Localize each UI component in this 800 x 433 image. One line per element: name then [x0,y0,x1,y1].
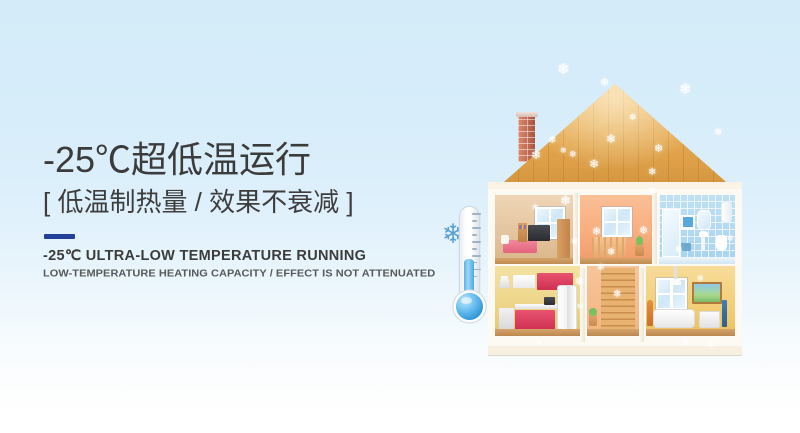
pendant-lamp [670,279,681,285]
books [519,225,526,229]
sink-pedestal [702,236,705,250]
wall-separator [639,268,644,342]
subtitle: [ 低温制热量 / 效果不衰减 ] [43,184,443,220]
floor-lamp [647,300,653,326]
snowflake-icon: ❄ [531,149,541,161]
pendant-cord [674,266,677,280]
promo-banner: -25℃超低温运行 [ 低温制热量 / 效果不衰减 ] -25℃ ULTRA-L… [0,0,800,433]
page-title: -25℃超低温运行 [43,138,443,182]
small-window [681,215,695,229]
snowflake-icon: ❄ [639,226,648,237]
snowflake-icon: ❄ [727,235,734,243]
framed-picture [692,282,722,304]
microwave [544,297,555,305]
snowflake-icon: ❄ [714,128,722,138]
floor-line [587,329,639,336]
toilet [716,235,727,251]
snowflake-icon: ❄ [548,136,556,146]
pillow [501,235,509,244]
snowflake-icon: ❄ [697,275,704,283]
room-kitchen [495,266,580,336]
snowflake-icon: ❄ [560,147,567,155]
snowflake-icon: ❄ [708,341,715,349]
snowflake-icon: ❄ [536,340,542,347]
english-subline: LOW-TEMPERATURE HEATING CAPACITY / EFFEC… [43,266,443,281]
cabinet [700,312,719,327]
mirror [697,210,711,230]
snowflake-icon: ❄ [681,338,689,348]
window [602,207,632,237]
snowflake-icon: ❄ [575,277,584,288]
divider [44,234,75,239]
room-bathroom [659,195,735,265]
floor-line [495,329,580,336]
wall-shelf [513,275,535,288]
snowflake-icon: ❄ [648,187,656,196]
snowflake-icon: ❄ [560,194,571,207]
range-hood [499,276,510,288]
lower-cabinets [515,310,555,330]
floors [488,182,742,346]
copy-block: -25℃超低温运行 [ 低温制热量 / 效果不衰减 ] -25℃ ULTRA-L… [43,138,443,282]
snowflake-icon: ❄ [629,113,637,122]
water-heater [721,201,732,223]
refrigerator [558,286,576,330]
room-living [646,266,735,336]
television [528,225,550,241]
stove [499,308,514,330]
snowflake-icon: ❄ [532,204,539,212]
cutaway-house [470,78,760,346]
snowflake-icon: ❄ [569,150,577,159]
floor-line [646,329,735,336]
english-headline: -25℃ ULTRA-LOW TEMPERATURE RUNNING [43,247,443,266]
staircase [601,268,635,334]
snowflake-icon: ❄ [607,248,615,258]
door [557,219,570,259]
floor-speaker [722,300,727,327]
sofa [654,310,694,327]
wall-separator [652,193,657,267]
snowflake-icon: ❄ [600,78,609,89]
snowflake-icon: ❄ [654,144,663,155]
room-staircase [587,266,639,336]
wall-separator [573,193,578,267]
snowflake-icon: ❄ [571,237,579,246]
snowflake-icon: ❄ [589,158,599,170]
plant-leaves [589,308,597,316]
snowflake-icon: ❄ [557,62,570,77]
plant-leaves [636,236,643,245]
snowflake-icon: ❄ [606,133,616,145]
snowflake-icon: ❄ [592,227,601,238]
snowflake-icon: ❄ [675,245,683,254]
snowflake-icon: ❄ [597,263,605,272]
snowflake-icon: ❄ [577,303,584,311]
snowflake-icon: ❄ [679,82,692,97]
snowflake-icon: ❄ [613,290,621,300]
snowflake-icon: ❄ [648,168,656,178]
